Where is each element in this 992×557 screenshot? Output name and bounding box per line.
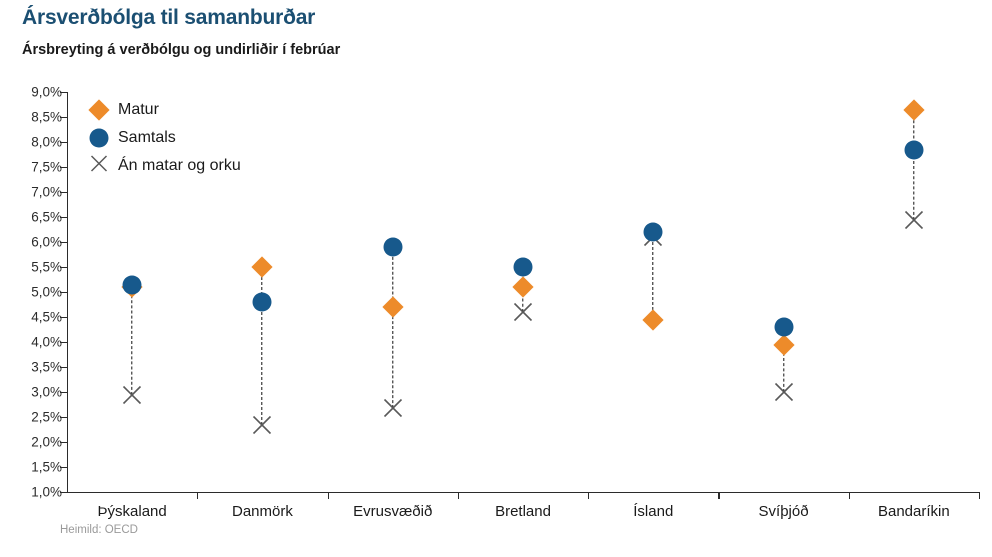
data-point-diamond[interactable] <box>512 276 533 297</box>
y-axis-tick-mark <box>60 92 67 93</box>
legend-item-matur[interactable]: Matur <box>86 96 241 124</box>
y-axis-tick-mark <box>60 142 67 143</box>
range-connector-line <box>913 110 914 220</box>
data-point-diamond[interactable] <box>643 309 664 330</box>
y-axis-tick-label: 5,0% <box>2 285 62 300</box>
y-axis-tick-mark <box>60 192 67 193</box>
y-axis-tick-label: 3,0% <box>2 385 62 400</box>
x-axis-line <box>67 492 979 493</box>
y-axis-tick-label: 2,0% <box>2 435 62 450</box>
data-point-cross[interactable] <box>773 382 794 403</box>
y-axis-tick-label: 4,5% <box>2 310 62 325</box>
x-axis-tick-mark <box>458 492 459 499</box>
cross-icon <box>86 153 112 179</box>
legend-label-an-matar-og-orku: Án matar og orku <box>112 157 241 175</box>
y-axis-tick-label: 2,5% <box>2 410 62 425</box>
y-axis-tick-mark <box>60 117 67 118</box>
y-axis-tick-mark <box>60 417 67 418</box>
y-axis-tick-mark <box>60 242 67 243</box>
y-axis-tick-label: 3,5% <box>2 360 62 375</box>
range-connector-line <box>131 285 132 395</box>
y-axis-tick-label: 8,5% <box>2 110 62 125</box>
data-point-circle[interactable] <box>514 258 533 277</box>
data-point-circle[interactable] <box>383 238 402 257</box>
x-axis-tick-mark <box>979 492 980 499</box>
y-axis-tick-mark <box>60 217 67 218</box>
x-axis-category-label: Bandaríkin <box>878 503 950 520</box>
y-axis-tick-label: 1,0% <box>2 485 62 500</box>
data-point-diamond[interactable] <box>382 296 403 317</box>
y-axis-tick-label: 7,5% <box>2 160 62 175</box>
x-axis-category-label: Ísland <box>633 503 673 520</box>
x-axis-tick-mark <box>328 492 329 499</box>
data-point-circle[interactable] <box>253 293 272 312</box>
y-axis-tick-label: 5,5% <box>2 260 62 275</box>
y-axis-tick-mark <box>60 292 67 293</box>
x-axis-category-label: Danmörk <box>232 503 293 520</box>
y-axis-tick-label: 8,0% <box>2 135 62 150</box>
source-note: Heimild: OECD <box>60 524 138 536</box>
data-point-diamond[interactable] <box>903 99 924 120</box>
x-axis-tick-mark <box>718 492 719 499</box>
chart-legend: Matur Samtals Án matar og orku <box>86 96 241 180</box>
circle-icon <box>86 125 112 151</box>
y-axis-line <box>67 92 68 492</box>
y-axis-tick-label: 6,0% <box>2 235 62 250</box>
y-axis-tick-mark <box>60 317 67 318</box>
x-axis-category-label: Svíþjóð <box>759 503 809 520</box>
y-axis-tick-mark <box>60 442 67 443</box>
y-axis-tick-mark <box>60 467 67 468</box>
data-point-cross[interactable] <box>903 209 924 230</box>
legend-item-an-matar-og-orku[interactable]: Án matar og orku <box>86 152 241 180</box>
x-axis-tick-mark <box>197 492 198 499</box>
y-axis-tick-mark <box>60 392 67 393</box>
y-axis-tick-label: 9,0% <box>2 85 62 100</box>
legend-item-samtals[interactable]: Samtals <box>86 124 241 152</box>
data-point-diamond[interactable] <box>252 256 273 277</box>
y-axis-tick-label: 7,0% <box>2 185 62 200</box>
data-point-cross[interactable] <box>122 384 143 405</box>
inflation-comparison-chart: Ársverðbólga til samanburðar Ársbreyting… <box>0 0 992 557</box>
plot-area: 9,0%8,5%8,0%7,5%7,0%6,5%6,0%5,5%5,0%4,5%… <box>0 0 992 557</box>
data-point-circle[interactable] <box>774 318 793 337</box>
data-point-cross[interactable] <box>382 398 403 419</box>
data-point-cross[interactable] <box>513 302 534 323</box>
x-axis-category-label: Bretland <box>495 503 551 520</box>
y-axis-tick-label: 6,5% <box>2 210 62 225</box>
x-axis-category-label: Þýskaland <box>98 503 167 520</box>
x-axis-category-label: Evrusvæðið <box>353 503 432 520</box>
data-point-diamond[interactable] <box>773 334 794 355</box>
y-axis-tick-label: 1,5% <box>2 460 62 475</box>
y-axis-tick-label: 4,0% <box>2 335 62 350</box>
data-point-circle[interactable] <box>644 223 663 242</box>
data-point-circle[interactable] <box>123 275 142 294</box>
x-axis-tick-mark <box>849 492 850 499</box>
diamond-icon <box>86 97 112 123</box>
y-axis-tick-mark <box>60 342 67 343</box>
range-connector-line <box>262 267 263 425</box>
data-point-circle[interactable] <box>904 140 923 159</box>
y-axis-tick-mark <box>60 167 67 168</box>
y-axis-tick-mark <box>60 492 67 493</box>
data-point-cross[interactable] <box>252 414 273 435</box>
y-axis-tick-mark <box>60 267 67 268</box>
legend-label-samtals: Samtals <box>112 129 176 147</box>
y-axis-tick-mark <box>60 367 67 368</box>
x-axis-tick-mark <box>588 492 589 499</box>
range-connector-line <box>392 247 393 408</box>
legend-label-matur: Matur <box>112 101 159 119</box>
